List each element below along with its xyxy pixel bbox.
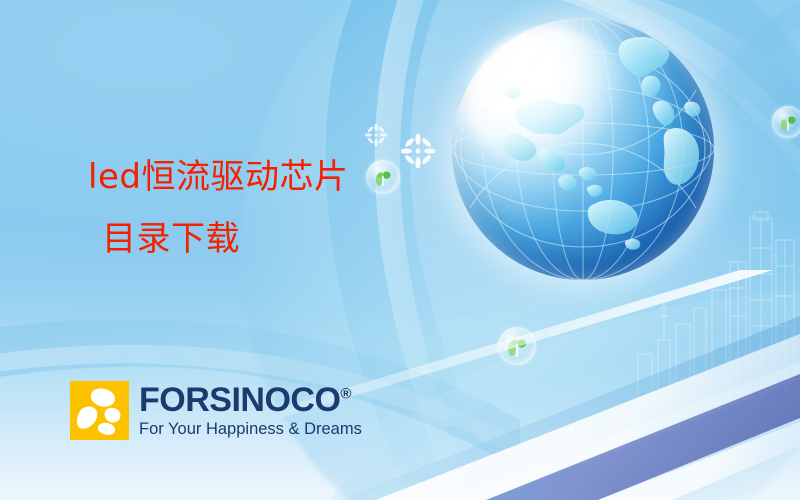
logo-text-block: FORSINOCO® For Your Happiness & Dreams bbox=[139, 381, 362, 440]
brand-wordmark: FORSINOCO® bbox=[139, 383, 362, 417]
page-title: led恒流驱动芯片 目录下载 bbox=[88, 160, 348, 256]
promo-banner: led恒流驱动芯片 目录下载 FORSINOCO® bbox=[0, 0, 800, 500]
headline-line-2: 目录下载 bbox=[102, 222, 348, 256]
four-petal-flower-icon bbox=[70, 381, 129, 440]
green-pinwheel-icon bbox=[366, 160, 400, 194]
brand-logo: FORSINOCO® For Your Happiness & Dreams bbox=[70, 381, 362, 440]
registered-trademark-icon: ® bbox=[340, 386, 351, 403]
brand-name: FORSINOCO bbox=[139, 381, 340, 419]
headline-line-1: led恒流驱动芯片 bbox=[88, 160, 348, 194]
flower-sparkle-icon-small bbox=[365, 124, 387, 146]
brand-tagline: For Your Happiness & Dreams bbox=[139, 421, 362, 438]
flower-sparkle-icon bbox=[401, 134, 435, 168]
soap-bubble-icon bbox=[366, 160, 400, 194]
logo-mark-tile bbox=[70, 381, 129, 440]
green-pinwheel-icon bbox=[772, 106, 800, 138]
soap-bubble-icon bbox=[772, 106, 800, 138]
